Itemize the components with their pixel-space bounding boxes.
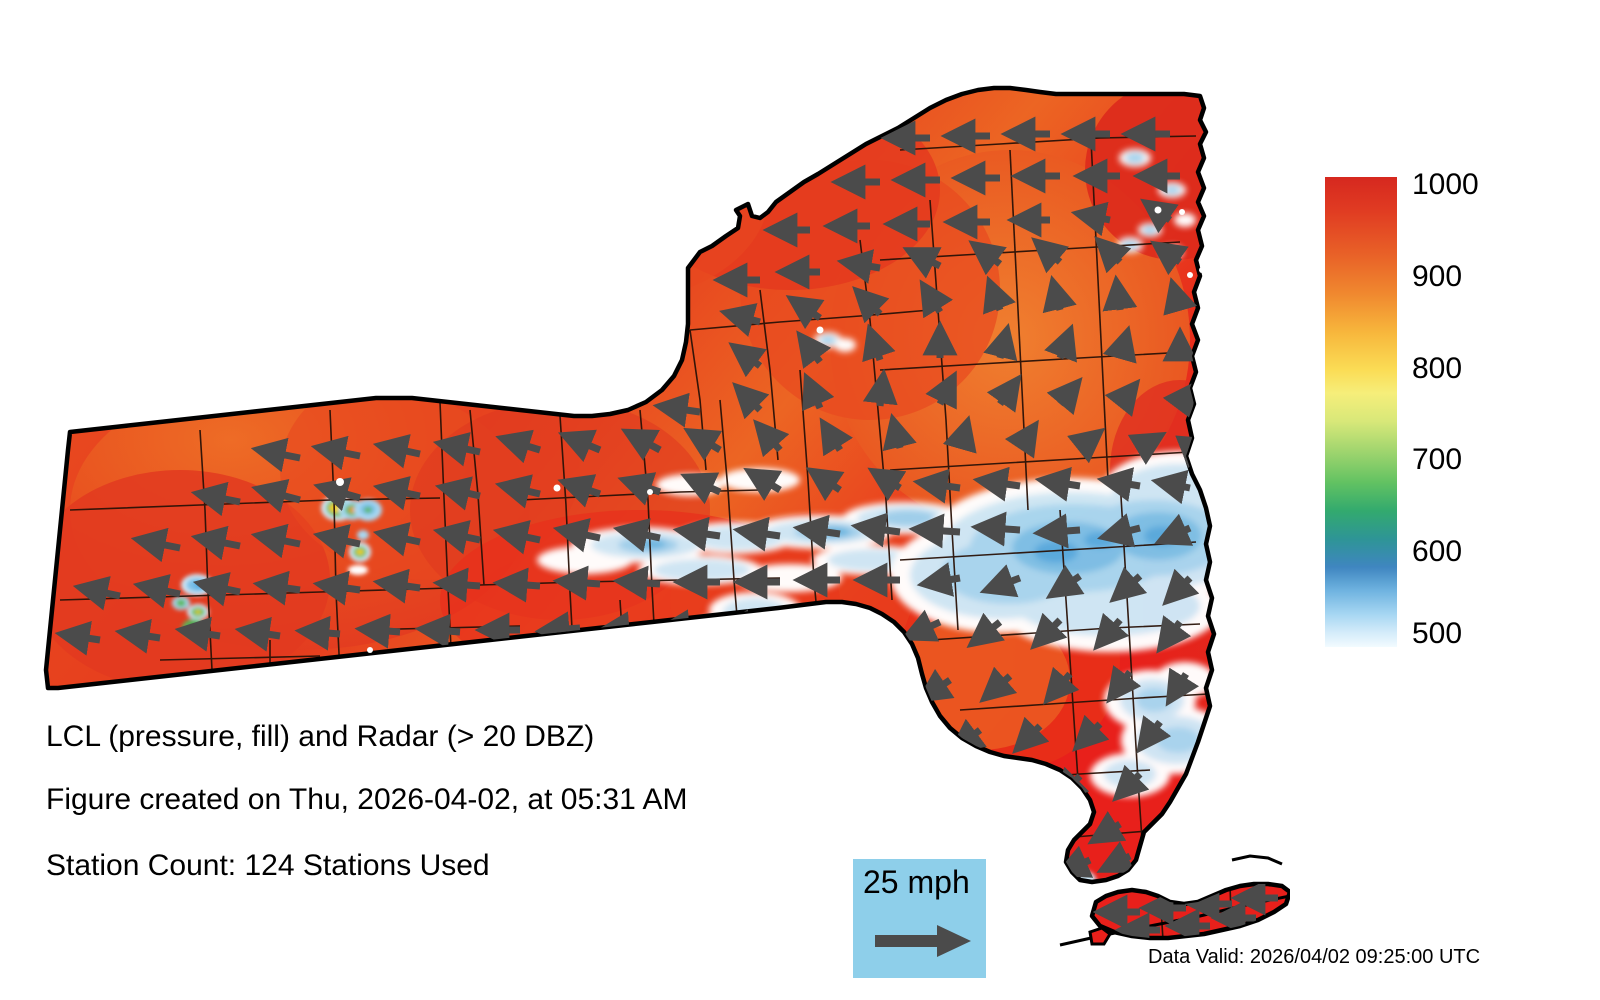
- ny-state-map: [0, 40, 1290, 970]
- wind-speed-legend: 25 mph: [853, 859, 986, 978]
- wind-legend-arrow-icon: [875, 921, 977, 961]
- data-valid-timestamp: Data Valid: 2026/04/02 09:25:00 UTC: [1148, 947, 1480, 967]
- weather-map-figure: NYS Mesonet UNIVERSITY AT ALBANY: [0, 0, 1600, 1000]
- wind-legend-label: 25 mph: [863, 866, 970, 898]
- figure-created-caption: Figure created on Thu, 2026-04-02, at 05…: [46, 785, 688, 815]
- station-count-caption: Station Count: 124 Stations Used: [46, 851, 490, 881]
- lcl-pressure-colorbar: [1325, 177, 1397, 647]
- colorbar-tick-900: 900: [1412, 262, 1462, 292]
- colorbar-tick-700: 700: [1412, 445, 1462, 475]
- colorbar-tick-600: 600: [1412, 537, 1462, 567]
- colorbar-tick-800: 800: [1412, 354, 1462, 384]
- colorbar-tick-500: 500: [1412, 619, 1462, 649]
- colorbar-tick-1000: 1000: [1412, 170, 1479, 200]
- figure-title-caption: LCL (pressure, fill) and Radar (> 20 DBZ…: [46, 722, 594, 752]
